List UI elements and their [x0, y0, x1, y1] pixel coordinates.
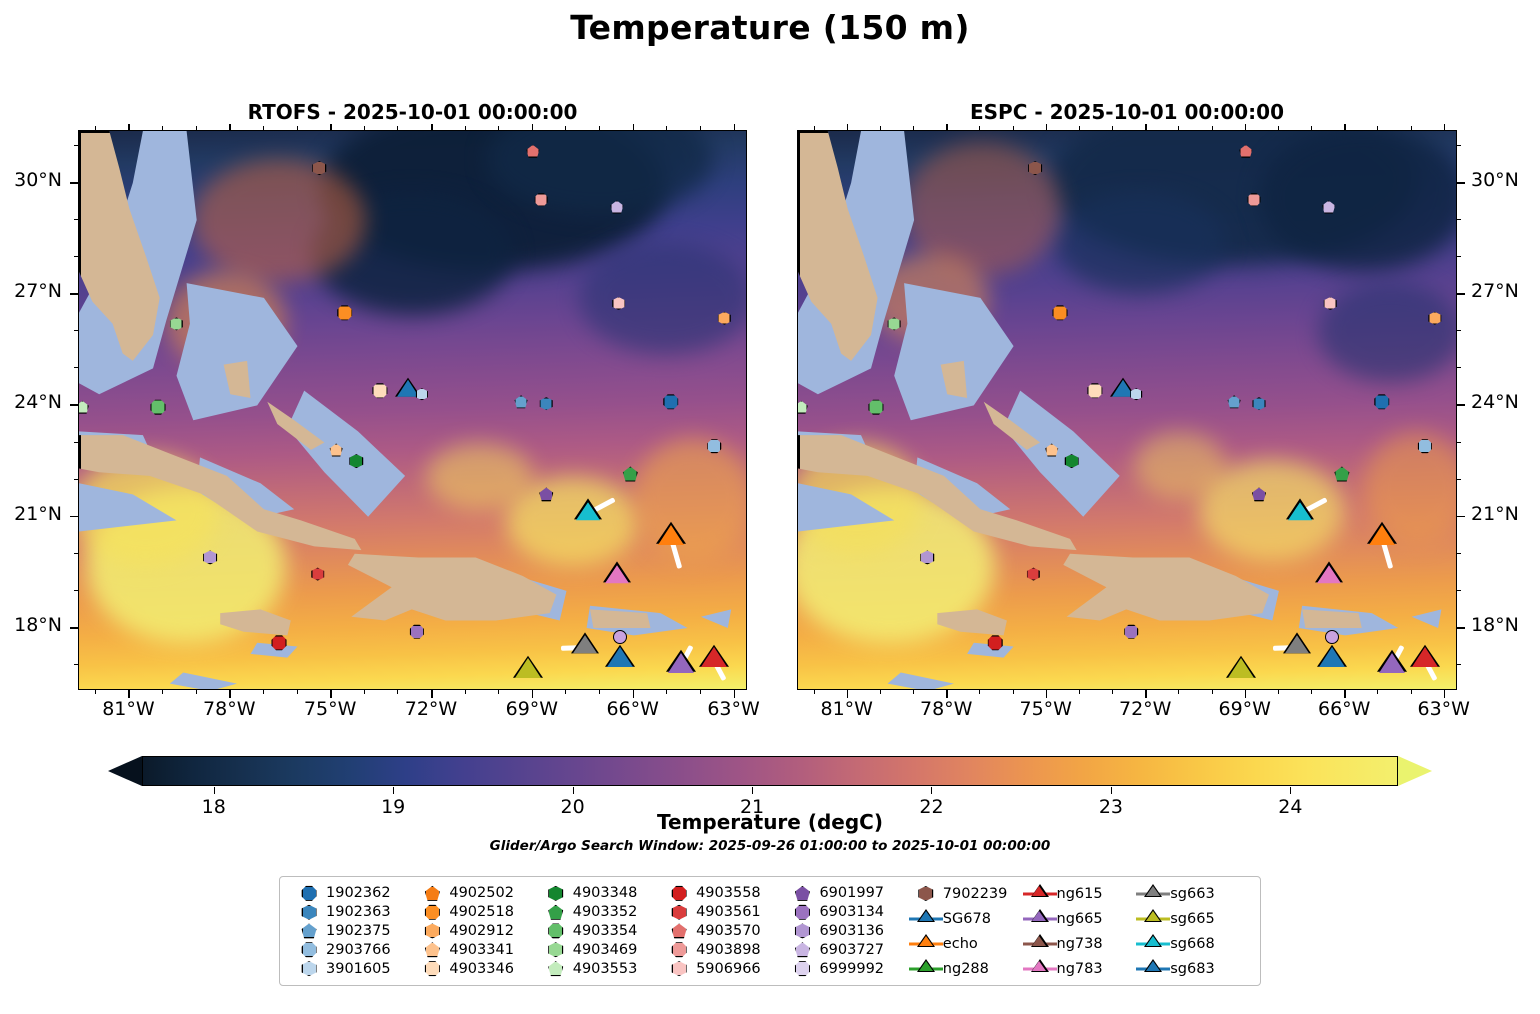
axis-tick — [74, 367, 78, 368]
legend-item-4903570[interactable]: 4903570 — [662, 922, 785, 941]
legend-marker-6903136 — [785, 923, 819, 938]
axis-tick — [1311, 126, 1312, 130]
argo-marker-4903558[interactable] — [272, 635, 287, 650]
axis-tick-label: 30°N — [14, 169, 62, 191]
legend-marker-6901997 — [785, 886, 819, 901]
axis-tick-label: 81°W — [102, 698, 154, 720]
colorbar-tick — [573, 787, 574, 794]
axis-tick — [532, 690, 534, 698]
legend-item-ng288[interactable]: ng288 — [909, 959, 1023, 978]
legend-shape-pentagon — [795, 886, 810, 901]
legend-marker-4903898 — [662, 942, 696, 957]
legend-item-sg665[interactable]: sg665 — [1136, 909, 1250, 928]
legend-marker-2903766 — [292, 942, 326, 957]
argo-marker-4903558[interactable] — [988, 635, 1003, 650]
axis-tick-label: 21°N — [1471, 503, 1519, 525]
axis-tick — [162, 690, 163, 694]
legend-marker-4903561 — [662, 905, 696, 920]
legend-triangle-outline — [1144, 934, 1162, 947]
axis-tick-label: 27°N — [14, 280, 62, 302]
legend-label: sg668 — [1170, 936, 1214, 952]
legend-shape-hexagon — [548, 942, 563, 957]
axis-tick — [1046, 690, 1048, 698]
legend-shape-octagon — [672, 942, 687, 957]
axis-tick-label: 18°N — [1471, 614, 1519, 636]
legend-item-4903352[interactable]: 4903352 — [539, 903, 662, 922]
axis-tick — [700, 690, 701, 694]
glider-marker-ng615[interactable] — [701, 647, 727, 667]
legend-item-echo[interactable]: echo — [909, 934, 1023, 953]
axis-tick — [1377, 126, 1378, 130]
axis-tick — [74, 479, 78, 480]
legend-triangle-outline — [1031, 884, 1049, 897]
argo-marker-4903354[interactable] — [868, 400, 883, 415]
axis-tick — [734, 690, 736, 698]
argo-marker-6903134b[interactable] — [1325, 630, 1339, 644]
legend-shape-octagon — [425, 905, 440, 920]
legend-item-3901605[interactable]: 3901605 — [292, 959, 415, 978]
legend-label: 1902375 — [326, 923, 391, 939]
axis-tick — [1079, 126, 1080, 130]
legend-item-ng615[interactable]: ng615 — [1023, 884, 1137, 903]
legend-column: 69019976903134690313669037276999992 — [785, 884, 908, 978]
figure-suptitle: Temperature (150 m) — [0, 8, 1540, 47]
legend-item-4903341[interactable]: 4903341 — [415, 940, 538, 959]
axis-tick-label: 78°W — [920, 698, 972, 720]
legend-label: 4903352 — [573, 904, 638, 920]
legend-item-7902239[interactable]: 7902239 — [909, 884, 1023, 903]
axis-tick-label: 78°W — [203, 698, 255, 720]
legend-shape-pentagon — [548, 905, 563, 920]
axis-tick — [946, 124, 948, 131]
legend-item-4902502[interactable]: 4902502 — [415, 884, 538, 903]
axis-tick — [263, 690, 264, 694]
legend-shape-octagon — [302, 942, 317, 957]
coastline-layer — [79, 131, 746, 689]
axis-tick — [565, 690, 566, 694]
axis-tick — [1013, 690, 1014, 694]
legend-shape-octagon — [672, 886, 687, 901]
legend-item-4903348[interactable]: 4903348 — [539, 884, 662, 903]
axis-tick — [1457, 367, 1461, 368]
axis-tick — [297, 126, 298, 130]
legend-marker-6999992 — [785, 961, 819, 976]
panel-title-espc: ESPC - 2025-10-01 00:00:00 — [797, 100, 1457, 124]
colorbar-tick — [931, 787, 932, 794]
legend-marker-5906966 — [662, 961, 696, 976]
legend-item-1902375[interactable]: 1902375 — [292, 922, 415, 941]
legend-shape-pentagon — [302, 923, 317, 938]
axis-tick — [196, 690, 197, 694]
axis-tick — [1444, 124, 1446, 131]
glider-marker-sg665[interactable] — [1228, 658, 1254, 678]
axis-tick — [1457, 182, 1465, 184]
legend-triangle-fill — [1032, 886, 1046, 896]
axis-tick — [700, 126, 701, 130]
axis-tick — [74, 330, 78, 331]
legend-item-SG678[interactable]: SG678 — [909, 909, 1023, 928]
axis-tick-label: 69°W — [506, 698, 558, 720]
legend-marker-sg668 — [1136, 940, 1170, 947]
legend-label: 4902912 — [449, 923, 514, 939]
legend-label: 4902518 — [449, 904, 514, 920]
axis-tick — [70, 182, 78, 184]
legend-triangle-outline — [917, 934, 935, 947]
legend-shape-hexagon — [302, 961, 317, 976]
legend-marker-sg665 — [1136, 915, 1170, 922]
axis-tick — [1112, 126, 1113, 130]
map-panel-rtofs[interactable] — [78, 130, 747, 690]
legend-marker-6903727 — [785, 942, 819, 957]
legend-label: 3901605 — [326, 961, 391, 977]
legend-marker-SG678 — [909, 915, 943, 922]
axis-tick — [913, 126, 914, 130]
axis-tick — [599, 690, 600, 694]
axis-tick — [70, 404, 78, 406]
axis-tick — [1245, 124, 1247, 131]
legend-marker-1902362 — [292, 886, 326, 901]
axis-tick — [1112, 690, 1113, 694]
legend-marker-4903352 — [539, 905, 573, 920]
legend-item-1902362[interactable]: 1902362 — [292, 884, 415, 903]
legend-triangle-fill — [1146, 961, 1160, 971]
legend-triangle-fill — [1032, 911, 1046, 921]
axis-tick — [1344, 690, 1346, 698]
legend-shape-pentagon — [548, 961, 563, 976]
legend-marker-6903134 — [785, 905, 819, 920]
argo-marker-1902362[interactable] — [663, 394, 678, 409]
legend-shape-octagon — [548, 923, 563, 938]
axis-tick — [979, 126, 980, 130]
axis-tick-label: 30°N — [1471, 169, 1519, 191]
axis-tick — [397, 126, 398, 130]
glider-marker-sg665[interactable] — [515, 658, 541, 678]
axis-tick — [880, 690, 881, 694]
legend-marker-sg663 — [1136, 890, 1170, 897]
glider-marker-sg663[interactable] — [573, 635, 597, 653]
glider-marker-echo[interactable] — [658, 525, 684, 545]
glider-marker-ng615[interactable] — [1412, 647, 1438, 667]
legend-column: ng615ng665ng738ng783 — [1023, 884, 1137, 978]
legend-shape-pentagon — [425, 942, 440, 957]
axis-tick — [814, 690, 815, 694]
legend-marker-ng665 — [1023, 915, 1057, 922]
axis-tick — [70, 627, 78, 629]
glider-marker-ng665[interactable] — [1379, 653, 1405, 673]
glider-marker-sg683[interactable] — [1319, 647, 1345, 667]
legend-shape-hexagon — [672, 961, 687, 976]
legend-item-4903346[interactable]: 4903346 — [415, 959, 538, 978]
legend-triangle-outline — [1031, 959, 1049, 972]
axis-tick — [880, 126, 881, 130]
colorbar-gradient — [142, 756, 1398, 786]
axis-tick — [465, 690, 466, 694]
axis-tick-label: 18°N — [14, 614, 62, 636]
map-panel-espc[interactable] — [797, 130, 1457, 690]
axis-tick — [128, 690, 130, 698]
legend-item-sg683[interactable]: sg683 — [1136, 959, 1250, 978]
legend-item-6901997[interactable]: 6901997 — [785, 884, 908, 903]
legend-label: 4903558 — [696, 885, 761, 901]
axis-tick-label: 24°N — [14, 391, 62, 413]
legend-label: 4903341 — [449, 942, 514, 958]
legend-marker-4903348 — [539, 886, 573, 901]
legend-marker-4902502 — [415, 886, 449, 901]
axis-tick — [1457, 627, 1465, 629]
legend-label: ng738 — [1057, 936, 1103, 952]
legend-label: 4903348 — [573, 885, 638, 901]
legend-item-4903561[interactable]: 4903561 — [662, 903, 785, 922]
legend-column: 49033484903352490335449034694903553 — [539, 884, 662, 978]
axis-tick — [95, 690, 96, 694]
legend-item-4902912[interactable]: 4902912 — [415, 922, 538, 941]
axis-tick — [74, 219, 78, 220]
legend-shape-hexagon — [548, 886, 563, 901]
axis-tick — [498, 126, 499, 130]
axis-tick-label: 63°W — [707, 698, 759, 720]
legend-shape-pentagon — [795, 942, 810, 957]
legend-label: 7902239 — [943, 886, 1008, 902]
argo-marker-4903898[interactable] — [535, 193, 548, 206]
legend-label: 6901997 — [819, 885, 884, 901]
legend-shape-octagon — [302, 886, 317, 901]
legend-marker-4902518 — [415, 905, 449, 920]
axis-tick — [465, 126, 466, 130]
legend-item-2903766[interactable]: 2903766 — [292, 940, 415, 959]
axis-tick — [1457, 256, 1461, 257]
axis-tick — [1013, 126, 1014, 130]
legend-label: 6903727 — [819, 942, 884, 958]
glider-marker-sg663[interactable] — [1285, 635, 1309, 653]
legend-label: sg665 — [1170, 911, 1214, 927]
legend-label: 5906966 — [696, 961, 761, 977]
glider-marker-sg668[interactable] — [576, 502, 600, 520]
legend-triangle-fill — [1032, 936, 1046, 946]
legend-item-4903898[interactable]: 4903898 — [662, 940, 785, 959]
legend-triangle-fill — [919, 961, 933, 971]
axis-tick — [431, 690, 433, 698]
legend-marker-1902363 — [292, 905, 326, 920]
legend-label: 4903898 — [696, 942, 761, 958]
axis-tick-label: 69°W — [1219, 698, 1271, 720]
legend-column: 49025024902518490291249033414903346 — [415, 884, 538, 978]
axis-tick — [196, 126, 197, 130]
axis-tick — [847, 690, 849, 698]
axis-tick — [1212, 126, 1213, 130]
axis-tick — [666, 690, 667, 694]
legend-label: sg663 — [1170, 886, 1214, 902]
glider-marker-ng783[interactable] — [1317, 565, 1341, 583]
axis-tick — [1457, 330, 1461, 331]
legend-label: 1902362 — [326, 885, 391, 901]
axis-tick — [633, 124, 635, 131]
axis-tick — [74, 664, 78, 665]
legend-item-1902363[interactable]: 1902363 — [292, 903, 415, 922]
axis-tick — [1178, 126, 1179, 130]
legend-triangle-outline — [1031, 909, 1049, 922]
legend-item-sg668[interactable]: sg668 — [1136, 934, 1250, 953]
legend-label: 1902363 — [326, 904, 391, 920]
legend-label: ng665 — [1057, 911, 1103, 927]
legend-label: SG678 — [943, 911, 991, 927]
axis-tick — [1457, 293, 1465, 295]
legend-shape-hexagon — [795, 923, 810, 938]
colorbar-extend-max — [1398, 756, 1432, 786]
legend-marker-ng288 — [909, 965, 943, 972]
axis-tick-label: 75°W — [304, 698, 356, 720]
legend-item-6903727[interactable]: 6903727 — [785, 940, 908, 959]
axis-tick-label: 72°W — [1119, 698, 1171, 720]
legend-marker-ng783 — [1023, 965, 1057, 972]
colorbar-tick — [752, 787, 753, 794]
axis-tick — [532, 124, 534, 131]
argo-marker-4903354[interactable] — [151, 400, 166, 415]
axis-tick — [1457, 442, 1461, 443]
legend-marker-4903553 — [539, 961, 573, 976]
legend-marker-4903346 — [415, 961, 449, 976]
legend-triangle-fill — [1146, 886, 1160, 896]
legend-label: 6903134 — [819, 904, 884, 920]
axis-tick — [1046, 124, 1048, 131]
legend-item-4903558[interactable]: 4903558 — [662, 884, 785, 903]
argo-marker-6903134b[interactable] — [613, 630, 627, 644]
legend-marker-4903570 — [662, 923, 696, 938]
axis-tick — [1411, 690, 1412, 694]
legend-label: 2903766 — [326, 942, 391, 958]
legend-triangle-outline — [1144, 884, 1162, 897]
legend-column: 7902239SG678echong288 — [909, 884, 1023, 978]
legend-label: ng615 — [1057, 886, 1103, 902]
legend-shape-pentagon — [672, 923, 687, 938]
axis-tick — [70, 293, 78, 295]
legend-item-4903469[interactable]: 4903469 — [539, 940, 662, 959]
legend-item-ng783[interactable]: ng783 — [1023, 959, 1137, 978]
axis-tick — [162, 126, 163, 130]
coastline-layer — [798, 131, 1456, 689]
axis-tick-label: 75°W — [1020, 698, 1072, 720]
axis-tick — [633, 690, 635, 698]
legend-shape-octagon — [795, 905, 810, 920]
axis-tick — [74, 145, 78, 146]
legend-triangle-outline — [917, 909, 935, 922]
legend-marker-ng738 — [1023, 940, 1057, 947]
legend-item-sg663[interactable]: sg663 — [1136, 884, 1250, 903]
axis-tick — [498, 690, 499, 694]
legend-marker-1902375 — [292, 923, 326, 938]
axis-tick — [74, 256, 78, 257]
legend-triangle-outline — [1144, 959, 1162, 972]
legend-item-6999992[interactable]: 6999992 — [785, 959, 908, 978]
legend-label: ng288 — [943, 961, 989, 977]
search-window-text: Glider/Argo Search Window: 2025-09-26 01… — [0, 838, 1540, 854]
axis-tick — [847, 124, 849, 131]
axis-tick — [1457, 145, 1461, 146]
axis-tick-label: 72°W — [405, 698, 457, 720]
legend-item-5906966[interactable]: 5906966 — [662, 959, 785, 978]
legend-label: 4903570 — [696, 923, 761, 939]
legend-label: sg683 — [1170, 961, 1214, 977]
axis-tick — [979, 690, 980, 694]
argo-marker-4903346[interactable] — [1087, 383, 1102, 398]
legend-label: 6903136 — [819, 923, 884, 939]
legend-item-4903354[interactable]: 4903354 — [539, 922, 662, 941]
argo-marker-4902518[interactable] — [1053, 305, 1068, 320]
argo-marker-4903346[interactable] — [372, 383, 387, 398]
axis-tick — [565, 126, 566, 130]
axis-tick — [229, 690, 231, 698]
legend-shape-octagon — [425, 961, 440, 976]
axis-tick — [1457, 219, 1461, 220]
legend-triangle-outline — [1031, 934, 1049, 947]
axis-tick — [1457, 664, 1461, 665]
axis-tick — [330, 690, 332, 698]
legend-column: sg663sg665sg668sg683 — [1136, 884, 1250, 978]
axis-tick — [364, 126, 365, 130]
axis-tick — [1212, 690, 1213, 694]
legend-marker-ng615 — [1023, 890, 1057, 897]
axis-tick-label: 66°W — [1318, 698, 1370, 720]
axis-tick-label: 21°N — [14, 503, 62, 525]
legend-item-4903553[interactable]: 4903553 — [539, 959, 662, 978]
legend-triangle-outline — [917, 959, 935, 972]
legend-item-6903134[interactable]: 6903134 — [785, 903, 908, 922]
legend-label: 6999992 — [819, 961, 884, 977]
axis-tick — [1245, 690, 1247, 698]
glider-marker-ng783[interactable] — [605, 565, 629, 583]
axis-tick — [74, 590, 78, 591]
axis-tick — [1278, 126, 1279, 130]
colorbar-tick — [1290, 787, 1291, 794]
legend-marker-sg683 — [1136, 965, 1170, 972]
glider-marker-ng665[interactable] — [668, 653, 694, 673]
legend-triangle-outline — [1144, 909, 1162, 922]
argo-marker-1902362[interactable] — [1374, 394, 1389, 409]
panel-title-rtofs: RTOFS - 2025-10-01 00:00:00 — [78, 100, 747, 124]
axis-tick — [946, 690, 948, 698]
axis-tick-label: 81°W — [821, 698, 873, 720]
legend-item-6903136[interactable]: 6903136 — [785, 922, 908, 941]
legend-item-4902518[interactable]: 4902518 — [415, 903, 538, 922]
legend-label: 4903354 — [573, 923, 638, 939]
colorbar-tick — [1111, 787, 1112, 794]
axis-tick — [330, 124, 332, 131]
legend-item-ng665[interactable]: ng665 — [1023, 909, 1137, 928]
axis-tick — [431, 124, 433, 131]
axis-tick — [263, 126, 264, 130]
legend-item-ng738[interactable]: ng738 — [1023, 934, 1137, 953]
axis-tick — [74, 442, 78, 443]
glider-marker-echo[interactable] — [1369, 525, 1395, 545]
argo-marker-4902518[interactable] — [337, 305, 352, 320]
glider-marker-sg668[interactable] — [1288, 502, 1312, 520]
colorbar-tick — [214, 787, 215, 794]
axis-tick-label: 24°N — [1471, 391, 1519, 413]
axis-tick — [128, 124, 130, 131]
legend-label: 4903346 — [449, 961, 514, 977]
legend-triangle-fill — [1146, 936, 1160, 946]
legend-shape-pentagon — [425, 886, 440, 901]
legend-marker-3901605 — [292, 961, 326, 976]
axis-tick — [1457, 404, 1465, 406]
axis-tick — [1311, 690, 1312, 694]
colorbar: 18192021222324 — [108, 756, 1432, 786]
glider-marker-sg683[interactable] — [607, 647, 633, 667]
axis-tick — [666, 126, 667, 130]
legend-column: 49035584903561490357049038985906966 — [662, 884, 785, 978]
legend-label: ng783 — [1057, 961, 1103, 977]
legend-label: 4903561 — [696, 904, 761, 920]
legend-label: echo — [943, 936, 978, 952]
